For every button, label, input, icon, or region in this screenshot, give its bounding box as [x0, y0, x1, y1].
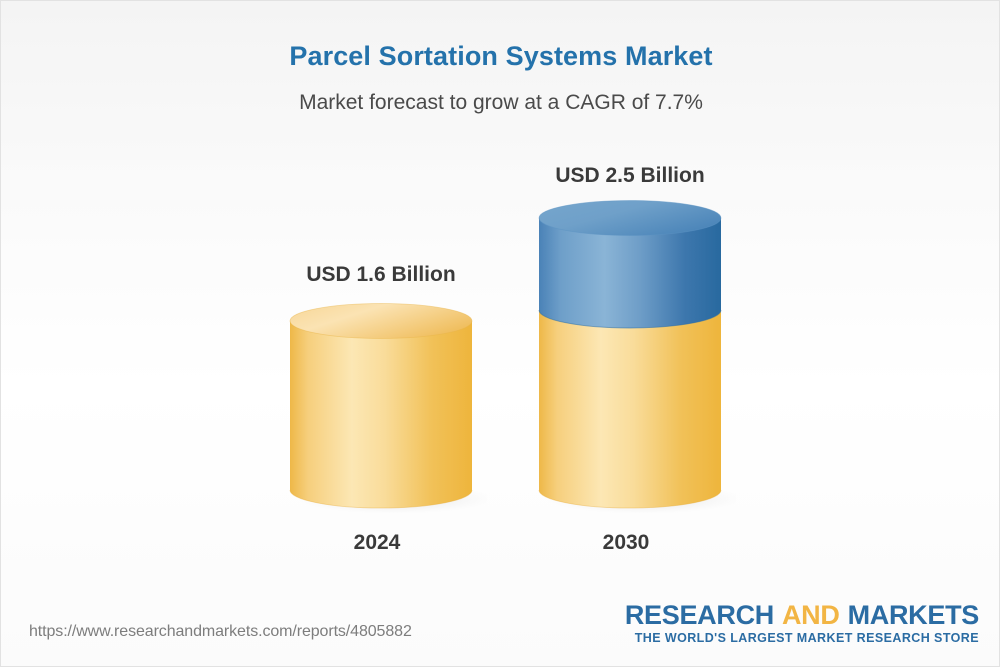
brand-word-and: AND: [782, 600, 840, 630]
bar-cylinder-2030: [536, 198, 736, 518]
brand-tagline: THE WORLD'S LARGEST MARKET RESEARCH STOR…: [625, 631, 979, 645]
value-label-2030: USD 2.5 Billion: [480, 164, 780, 188]
value-label-2024: USD 1.6 Billion: [231, 263, 531, 287]
chart-plot-area: USD 1.6 Billion: [1, 1, 1000, 601]
brand-word-research: RESEARCH: [625, 600, 774, 630]
infographic-canvas: Parcel Sortation Systems Market Market f…: [0, 0, 1000, 667]
brand-word-markets: MARKETS: [848, 600, 979, 630]
source-url-link[interactable]: https://www.researchandmarkets.com/repor…: [29, 623, 412, 641]
category-label-2030: 2030: [476, 531, 776, 555]
bar-cylinder-2024: [287, 303, 487, 518]
brand-logo-wordmark: RESEARCHANDMARKETS: [625, 601, 979, 629]
brand-logo[interactable]: RESEARCHANDMARKETS THE WORLD'S LARGEST M…: [625, 601, 979, 645]
